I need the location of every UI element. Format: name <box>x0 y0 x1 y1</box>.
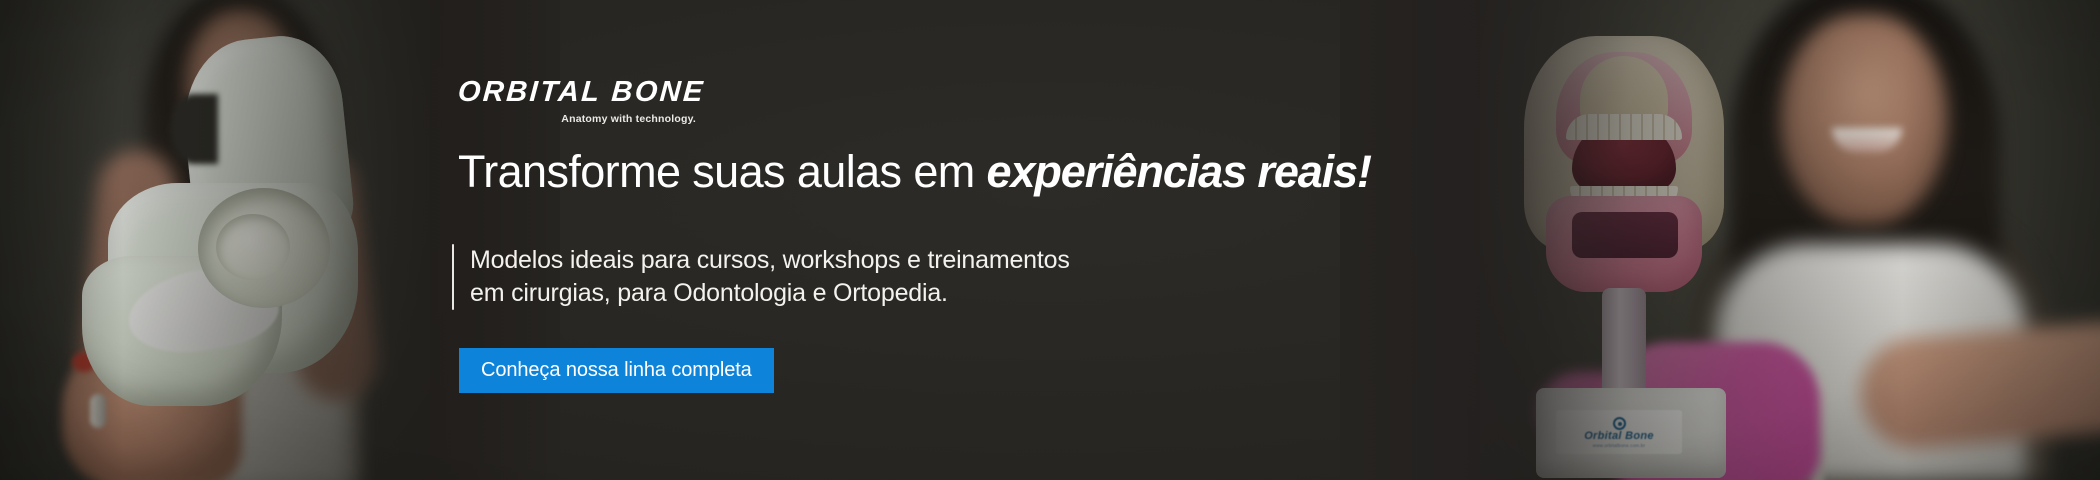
subtitle-text: Modelos ideais para cursos, workshops e … <box>470 244 1070 310</box>
subtitle-accent-rule <box>452 244 454 310</box>
promotional-banner: Orbital Bone www.orbitalbone.com.br ORBI… <box>0 0 2100 480</box>
headline-emphasis: experiências reais! <box>987 146 1371 197</box>
banner-content: ORBITAL BONE Anatomy with technology. Tr… <box>458 0 1158 480</box>
cta-button[interactable]: Conheça nossa linha completa <box>459 348 774 393</box>
page-title: Transforme suas aulas em experiências re… <box>458 148 1158 197</box>
logo-tagline: Anatomy with technology. <box>458 113 698 125</box>
subtitle-block: Modelos ideais para cursos, workshops e … <box>452 244 1070 310</box>
brand-logo: ORBITAL BONE Anatomy with technology. <box>458 78 698 125</box>
logo-wordmark: ORBITAL BONE <box>457 78 699 107</box>
headline-regular: Transforme suas aulas em <box>458 146 987 197</box>
